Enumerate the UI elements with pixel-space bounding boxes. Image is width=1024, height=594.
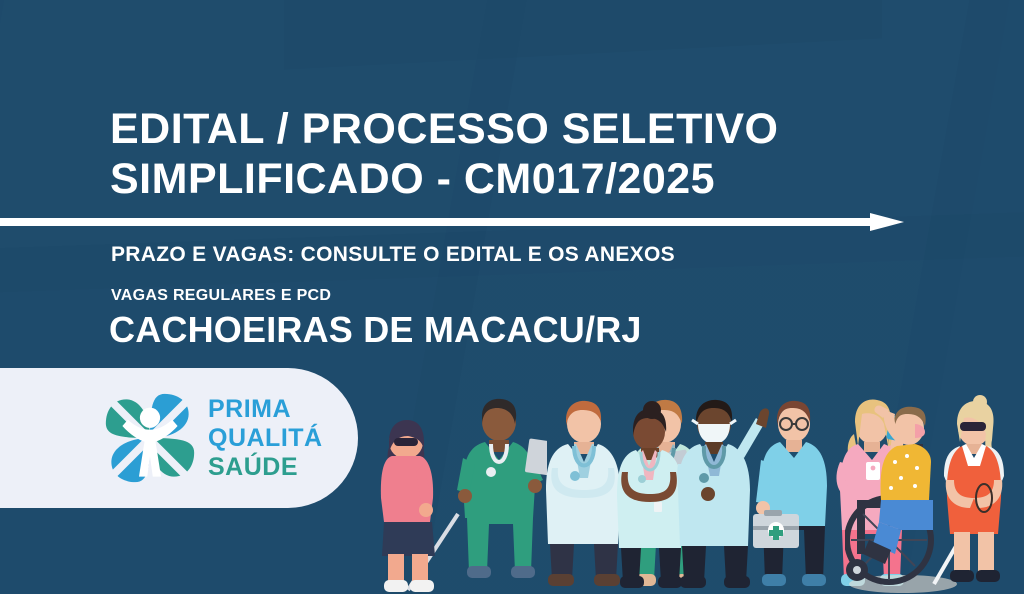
person-nurse-scrubs-icon xyxy=(455,394,547,594)
headline-line-2: SIMPLIFICADO - CM017/2025 xyxy=(110,154,910,204)
person-blind-woman-orange-icon xyxy=(930,394,1018,594)
headline-line-1: EDITAL / PROCESSO SELETIVO xyxy=(110,104,910,154)
person-blind-woman-cane-icon xyxy=(372,394,462,594)
subtitle-deadline-vacancies: PRAZO E VAGAS: CONSULTE O EDITAL E OS AN… xyxy=(111,243,675,267)
right-arrow-icon xyxy=(0,213,910,231)
edital-banner: EDITAL / PROCESSO SELETIVO SIMPLIFICADO … xyxy=(0,0,1024,594)
city-name: CACHOEIRAS DE MACACU/RJ xyxy=(109,309,642,351)
subtitle-regular-pcd: VAGAS REGULARES E PCD xyxy=(111,287,331,305)
page-title: EDITAL / PROCESSO SELETIVO SIMPLIFICADO … xyxy=(110,104,910,204)
person-medic-kit-icon xyxy=(752,394,838,594)
arrow-head xyxy=(870,213,904,231)
healthcare-people-illustration xyxy=(0,384,1024,594)
arrow-line xyxy=(0,218,878,226)
